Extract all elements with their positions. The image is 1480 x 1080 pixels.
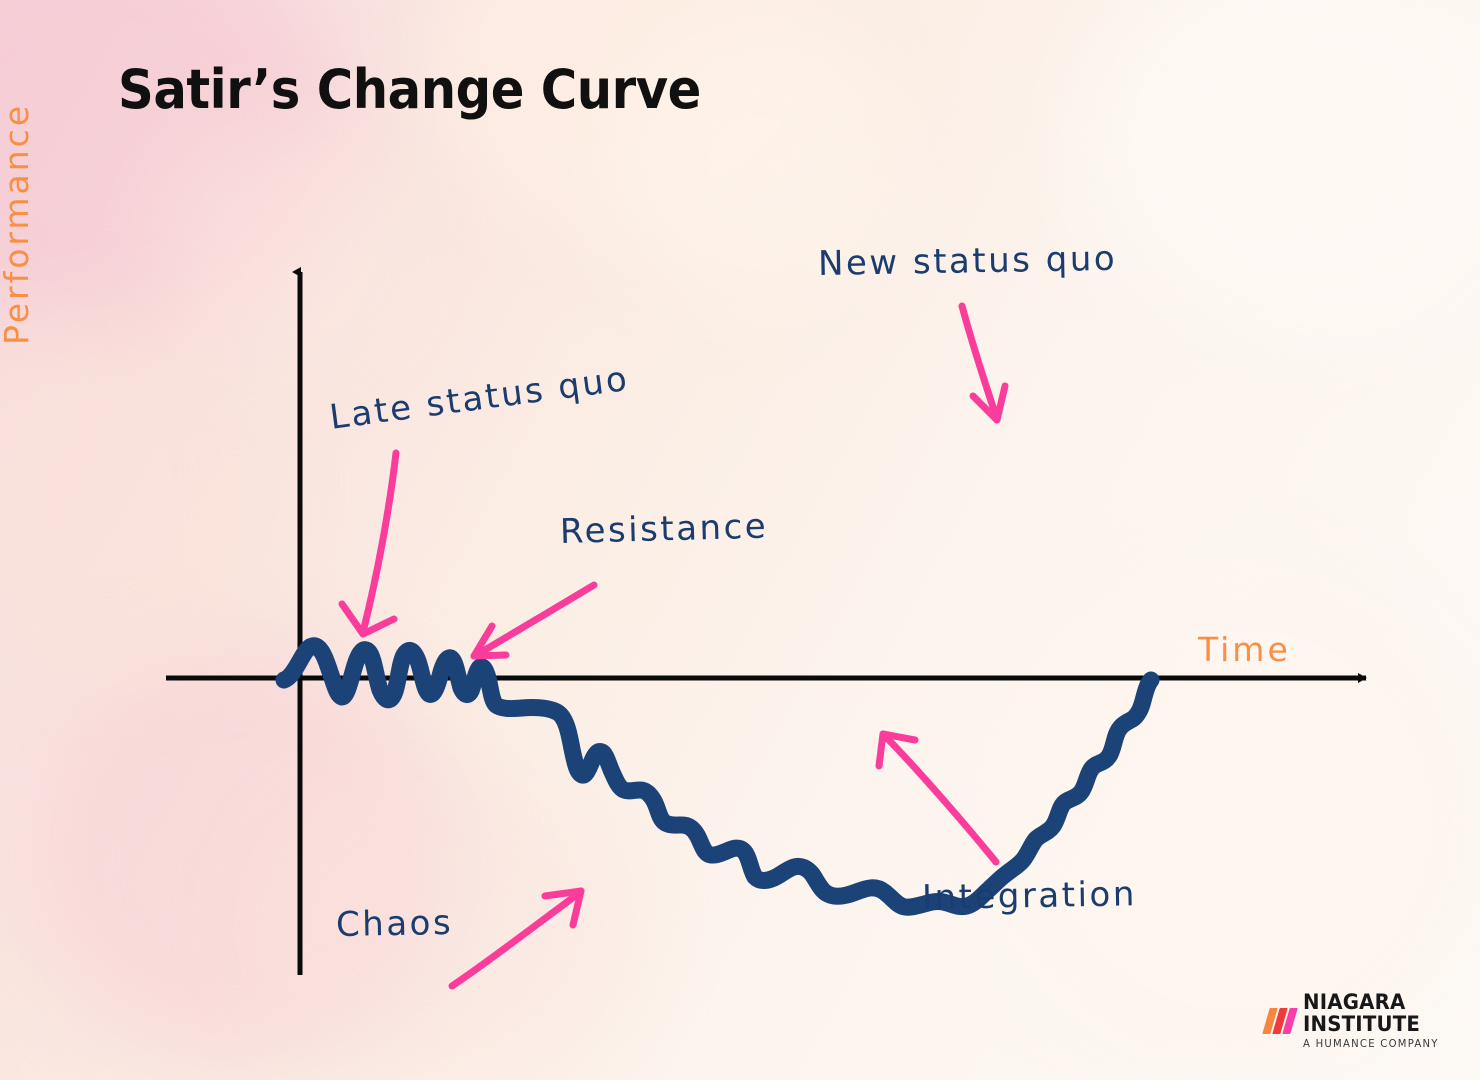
annotation-new-status-quo: New status quo (818, 239, 1118, 284)
infographic-canvas: Satir’s Change Curve (0, 0, 1480, 1080)
logo-text-block: NIAGARA INSTITUTE A HUMANCE COMPANY (1303, 992, 1444, 1050)
arrow-resistance (474, 585, 594, 656)
annotation-integration: Integration (922, 874, 1138, 918)
niagara-institute-logo: NIAGARA INSTITUTE A HUMANCE COMPANY (1266, 992, 1444, 1050)
curve-full (284, 646, 1151, 907)
logo-tagline: A HUMANCE COMPANY (1303, 1039, 1439, 1050)
arrow-chaos (452, 891, 581, 986)
arrow-new-status-quo (962, 306, 1005, 420)
x-axis-label: Time (1198, 630, 1291, 669)
arrow-late-status-quo (342, 453, 396, 634)
logo-bars-icon (1266, 1008, 1294, 1034)
logo-name-line2: INSTITUTE (1303, 1014, 1436, 1035)
arrow-integration (879, 734, 996, 862)
y-axis-label: Performance (0, 103, 36, 345)
annotation-chaos: Chaos (336, 903, 454, 945)
annotation-resistance: Resistance (559, 507, 768, 552)
logo-name-line1: NIAGARA (1303, 992, 1436, 1013)
